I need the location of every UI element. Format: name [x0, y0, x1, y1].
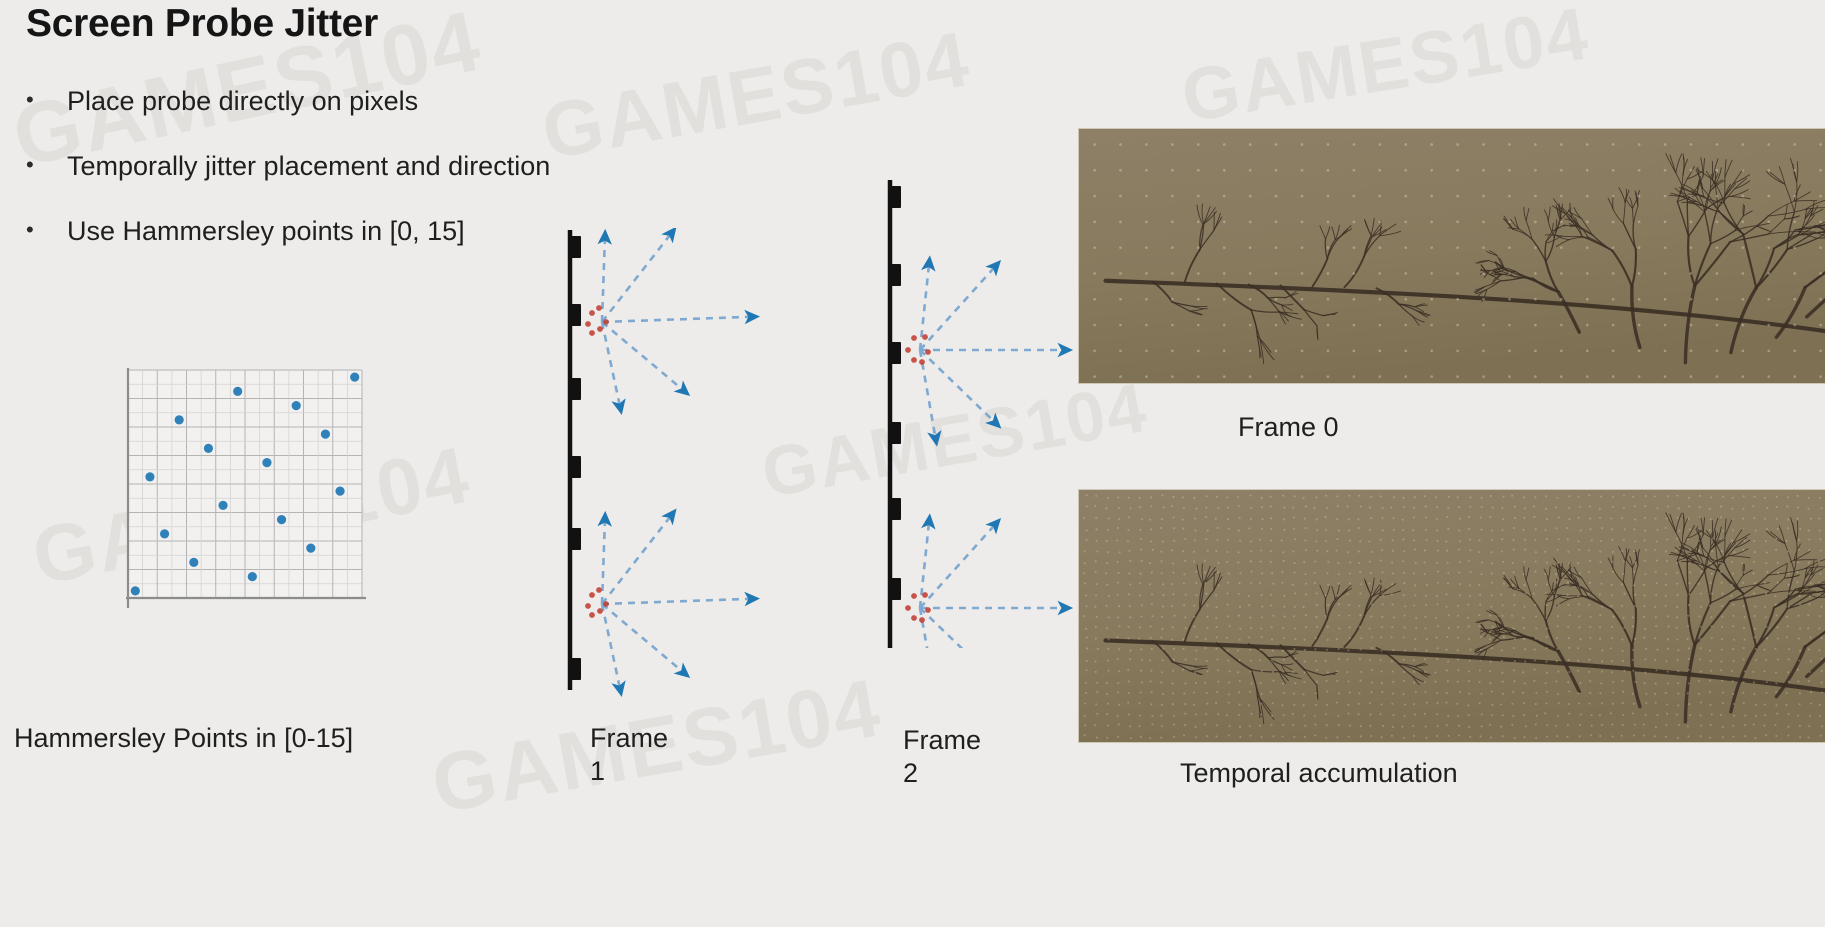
probe-dot	[1665, 573, 1667, 575]
probe-dot	[1173, 736, 1175, 738]
probe-dot	[1787, 671, 1789, 673]
probe-dot	[1239, 606, 1241, 608]
probe-dot	[1239, 704, 1241, 706]
probe-dot	[1182, 669, 1184, 671]
probe-dot	[1654, 693, 1656, 695]
probe-dot	[1776, 626, 1778, 628]
probe-dot	[1445, 593, 1447, 595]
probe-dot	[1217, 681, 1219, 683]
probe-dot	[1730, 595, 1732, 597]
probe-dot	[1239, 639, 1241, 641]
probe-dot	[1482, 375, 1485, 378]
probe-dot	[1139, 573, 1141, 575]
probe-dot	[1275, 324, 1278, 327]
probe-dot	[1753, 723, 1755, 725]
probe-dot	[1732, 680, 1734, 682]
probe-dot	[1392, 539, 1394, 541]
probe-dot	[1688, 647, 1690, 649]
probe-dot	[1742, 528, 1744, 530]
probe-dot	[1458, 549, 1460, 551]
probe-dot	[1721, 626, 1723, 628]
probe-dot	[1193, 692, 1195, 694]
probe-dot	[1160, 715, 1162, 717]
probe-dot	[1447, 528, 1449, 530]
probe-dot	[1381, 517, 1383, 519]
probe-dot	[1084, 550, 1086, 552]
probe-dot	[1414, 594, 1416, 596]
probe-dot	[1534, 350, 1537, 353]
probe-dot	[1721, 680, 1723, 682]
scatter-point	[131, 586, 140, 595]
probe-dot	[1667, 682, 1669, 684]
probe-dot	[1171, 583, 1173, 585]
probe-dot	[1275, 169, 1278, 172]
probe-dot	[1261, 693, 1263, 695]
probe-dot	[1688, 505, 1690, 507]
probe-dot	[1119, 246, 1122, 249]
probe-dot	[1819, 704, 1821, 706]
probe-dot	[1491, 582, 1493, 584]
probe-dot	[1085, 594, 1087, 596]
probe-dot	[1623, 627, 1625, 629]
probe-dot	[1512, 715, 1514, 717]
probe-dot	[1743, 647, 1745, 649]
probe-dot	[1819, 195, 1822, 198]
probe-dot	[1301, 246, 1304, 249]
probe-dot	[1173, 648, 1175, 650]
probe-dot	[1249, 143, 1252, 146]
probe-dot	[1251, 682, 1253, 684]
probe-dot	[1183, 604, 1185, 606]
probe-dot	[1382, 725, 1384, 727]
probe-dot	[1259, 659, 1261, 661]
probe-dot	[1261, 528, 1263, 530]
probe-dot	[1524, 660, 1526, 662]
probe-dot	[1248, 704, 1250, 706]
probe-dot	[1272, 735, 1274, 737]
probe-dot	[1249, 221, 1252, 224]
probe-dot	[1206, 670, 1208, 672]
probe-dot	[1283, 507, 1285, 509]
probe-dot	[1456, 375, 1459, 378]
probe-dot	[1808, 497, 1810, 499]
probe-dot	[1271, 626, 1273, 628]
probe-dot	[1447, 507, 1449, 509]
probe-dot	[1129, 605, 1131, 607]
probe-dot	[1766, 681, 1768, 683]
probe-dot	[1338, 627, 1340, 629]
probe-dot	[1623, 507, 1625, 509]
probe-dot	[1818, 628, 1820, 630]
probe-dot	[1479, 669, 1481, 671]
probe-dot	[1502, 693, 1504, 695]
probe-dot	[1655, 702, 1657, 704]
probe-dot	[1468, 680, 1470, 682]
probe-dot	[1796, 518, 1798, 520]
probe-dot	[1139, 506, 1141, 508]
probe-dot	[1490, 551, 1492, 553]
probe-dot	[1557, 562, 1559, 564]
probe-dot	[1810, 518, 1812, 520]
probe-dot	[1182, 527, 1184, 529]
probe-dot	[1151, 572, 1153, 574]
probe-dot	[1611, 626, 1613, 628]
probe-dot	[1777, 637, 1779, 639]
probe-dot	[1787, 496, 1789, 498]
probe-dot	[1119, 350, 1122, 353]
probe-dot	[1664, 298, 1667, 301]
render-frame0-image	[1078, 128, 1825, 384]
probe-dot	[1184, 682, 1186, 684]
probe-dot	[1638, 169, 1641, 172]
probe-dot	[1095, 660, 1097, 662]
probe-dot	[1808, 561, 1810, 563]
probe-dot	[1589, 505, 1591, 507]
probe-sample-dot	[922, 334, 928, 340]
probe-dot	[1338, 573, 1340, 575]
probe-dot	[1207, 530, 1209, 532]
probe-dot	[1676, 638, 1678, 640]
probe-dot	[1819, 573, 1821, 575]
probe-dot	[1292, 550, 1294, 552]
probe-dot	[1145, 298, 1148, 301]
probe-dot	[1275, 143, 1278, 146]
probe-dot	[1228, 725, 1230, 727]
probe-sample-dot	[905, 347, 911, 353]
pixel-tick	[569, 236, 581, 258]
probe-dot	[1413, 671, 1415, 673]
probe-dot	[1742, 350, 1745, 353]
probe-dot	[1327, 626, 1329, 628]
probe-dot	[1699, 658, 1701, 660]
scatter-point	[262, 458, 271, 467]
probe-dot	[1799, 736, 1801, 738]
probe-dot	[1327, 169, 1330, 172]
probe-dot	[1304, 639, 1306, 641]
probe-dot	[1534, 648, 1536, 650]
probe-dot	[1799, 725, 1801, 727]
probe-dot	[1392, 604, 1394, 606]
probe-dot	[1436, 637, 1438, 639]
probe-dot	[1687, 615, 1689, 617]
probe-dot	[1478, 681, 1480, 683]
probe-dot	[1601, 605, 1603, 607]
probe-dot	[1586, 350, 1589, 353]
probe-dot	[1578, 702, 1580, 704]
probe-dot	[1767, 324, 1770, 327]
probe-dot	[1378, 350, 1381, 353]
probe-dot	[1638, 375, 1641, 378]
probe-dot	[1568, 647, 1570, 649]
probe-dot	[1633, 571, 1635, 573]
probe-dot	[1656, 507, 1658, 509]
probe-dot	[1184, 703, 1186, 705]
probe-dot	[1678, 507, 1680, 509]
probe-dot	[1206, 703, 1208, 705]
pixel-tick	[889, 186, 901, 208]
probe-dot	[1793, 298, 1796, 301]
probe-dot	[1378, 246, 1381, 249]
caption-frame-1: Frame 1	[590, 722, 668, 788]
probe-dot	[1140, 538, 1142, 540]
probe-dot	[1414, 549, 1416, 551]
probe-dot	[1665, 584, 1667, 586]
probe-dot	[1391, 660, 1393, 662]
probe-dot	[1623, 539, 1625, 541]
probe-dot	[1490, 660, 1492, 662]
probe-dot	[1807, 736, 1809, 738]
probe-dot	[1227, 660, 1229, 662]
probe-dot	[1508, 272, 1511, 275]
probe-dot	[1688, 703, 1690, 705]
probe-dot	[1426, 702, 1428, 704]
probe-dot	[1645, 693, 1647, 695]
probe-dot	[1205, 538, 1207, 540]
probe-dot	[1204, 559, 1206, 561]
probe-dot	[1248, 527, 1250, 529]
probe-dot	[1378, 324, 1381, 327]
probe-dot	[1414, 714, 1416, 716]
probe-dot	[1228, 702, 1230, 704]
probe-dot	[1359, 593, 1361, 595]
probe-dot	[1534, 571, 1536, 573]
probe-dot	[1393, 617, 1395, 619]
probe-dot	[1434, 681, 1436, 683]
probe-dot	[1579, 735, 1581, 737]
probe-dot	[1689, 549, 1691, 551]
probe-dot	[1326, 550, 1328, 552]
probe-dot	[1425, 529, 1427, 531]
probe-dot	[1128, 572, 1130, 574]
probe-dot	[1810, 582, 1812, 584]
probe-dot	[1821, 681, 1823, 683]
probe-dot	[1622, 660, 1624, 662]
probe-dot	[1173, 540, 1175, 542]
probe-dot	[1193, 704, 1195, 706]
probe-dot	[1512, 628, 1514, 630]
probe-dot	[1378, 143, 1381, 146]
probe-dot	[1742, 517, 1744, 519]
probe-dot	[1381, 691, 1383, 693]
probe-dot	[1633, 550, 1635, 552]
probe-dot	[1294, 627, 1296, 629]
probe-dot	[1644, 530, 1646, 532]
probe-dot	[1643, 682, 1645, 684]
probe-dot	[1369, 713, 1371, 715]
scatter-point	[335, 487, 344, 496]
probe-dot	[1819, 221, 1822, 224]
probe-dot	[1360, 671, 1362, 673]
probe-dot	[1173, 516, 1175, 518]
probe-dot	[1292, 507, 1294, 509]
probe-dot	[1676, 562, 1678, 564]
probe-dot	[1489, 724, 1491, 726]
probe-dot	[1742, 195, 1745, 198]
probe-dot	[1140, 648, 1142, 650]
probe-dot	[1434, 672, 1436, 674]
probe-dot	[1523, 638, 1525, 640]
probe-dot	[1721, 582, 1723, 584]
probe-dot	[1305, 549, 1307, 551]
probe-dot	[1634, 540, 1636, 542]
probe-dot	[1096, 583, 1098, 585]
probe-dot	[1721, 616, 1723, 618]
probe-dot	[1301, 375, 1304, 378]
probe-dot	[1217, 713, 1219, 715]
probe-dot	[1151, 603, 1153, 605]
probe-dot	[1797, 495, 1799, 497]
probe-dot	[1096, 682, 1098, 684]
probe-dot	[1239, 726, 1241, 728]
probe-dot	[1479, 604, 1481, 606]
probe-dot	[1327, 298, 1330, 301]
probe-dot	[1084, 734, 1086, 736]
probe-dot	[1765, 626, 1767, 628]
probe-dot	[1424, 627, 1426, 629]
probe-dot	[1093, 272, 1096, 275]
probe-dot	[1588, 659, 1590, 661]
probe-dot	[1349, 637, 1351, 639]
probe-dot	[1535, 615, 1537, 617]
probe-dot	[1699, 638, 1701, 640]
probe-dot	[1381, 626, 1383, 628]
probe-sample-dot	[911, 335, 917, 341]
probe-dot	[1458, 572, 1460, 574]
probe-dot	[1568, 507, 1570, 509]
probe-dot	[1716, 375, 1719, 378]
probe-dot	[1786, 616, 1788, 618]
probe-dot	[1195, 713, 1197, 715]
probe-dot	[1138, 638, 1140, 640]
probe-dot	[1301, 169, 1304, 172]
probe-dot	[1514, 506, 1516, 508]
probe-dot	[1492, 626, 1494, 628]
probe-dot	[1303, 704, 1305, 706]
probe-dot	[1793, 195, 1796, 198]
probe-dot	[1690, 246, 1693, 249]
render-frame0-svg	[1079, 129, 1825, 383]
probe-dot	[1205, 593, 1207, 595]
probe-dot	[1281, 582, 1283, 584]
probe-dot	[1775, 538, 1777, 540]
probe-dot	[1534, 143, 1537, 146]
probe-dot	[1327, 604, 1329, 606]
probe-dot	[1711, 637, 1713, 639]
probe-dot	[1270, 724, 1272, 726]
probe-dot	[1117, 691, 1119, 693]
probe-dot	[1589, 518, 1591, 520]
probe-dot	[1799, 628, 1801, 630]
probe-dot	[1301, 221, 1304, 224]
probe-dot	[1413, 682, 1415, 684]
probe-dot	[1325, 594, 1327, 596]
probe-dot	[1303, 693, 1305, 695]
probe-dot	[1481, 713, 1483, 715]
probe-dot	[1534, 604, 1536, 606]
probe-dot	[1819, 272, 1822, 275]
scatter-point	[204, 444, 213, 453]
probe-dot	[1482, 298, 1485, 301]
probe-dot	[1513, 549, 1515, 551]
probe-dot	[1107, 660, 1109, 662]
probe-dot	[1316, 681, 1318, 683]
probe-dot	[1491, 562, 1493, 564]
hammersley-scatter-svg	[118, 362, 368, 610]
probe-dot	[1788, 648, 1790, 650]
probe-dot	[1326, 724, 1328, 726]
probe-dot	[1545, 508, 1547, 510]
probe-dot	[1119, 169, 1122, 172]
probe-dot	[1578, 692, 1580, 694]
probe-dot	[1413, 703, 1415, 705]
probe-dot	[1612, 571, 1614, 573]
probe-dot	[1172, 670, 1174, 672]
probe-dot	[1430, 350, 1433, 353]
probe-dot	[1788, 584, 1790, 586]
probe-dot	[1358, 713, 1360, 715]
probe-dot	[1611, 584, 1613, 586]
probe-dot	[1545, 592, 1547, 594]
probe-dot	[1456, 195, 1459, 198]
probe-dot	[1446, 669, 1448, 671]
probe-dot	[1689, 562, 1691, 564]
probe-dot	[1612, 736, 1614, 738]
probe-dot	[1501, 550, 1503, 552]
probe-dot	[1634, 605, 1636, 607]
probe-dot	[1171, 549, 1173, 551]
probe-dot	[1733, 639, 1735, 641]
probe-dot	[1676, 606, 1678, 608]
probe-dot	[1270, 505, 1272, 507]
probe-dot	[1700, 735, 1702, 737]
probe-dot	[1085, 605, 1087, 607]
probe-dot	[1447, 582, 1449, 584]
probe-dot	[1579, 584, 1581, 586]
probe-cluster	[585, 229, 757, 412]
probe-dot	[1145, 350, 1148, 353]
probe-sample-dot	[911, 593, 917, 599]
probe-dot	[1403, 550, 1405, 552]
probe-dot	[1667, 495, 1669, 497]
probe-dot	[1522, 671, 1524, 673]
probe-dot	[1754, 628, 1756, 630]
probe-dot	[1456, 298, 1459, 301]
probe-dot	[1327, 195, 1330, 198]
probe-dot	[1228, 734, 1230, 736]
probe-dot	[1665, 692, 1667, 694]
probe-dot	[1282, 683, 1284, 685]
probe-dot	[1272, 650, 1274, 652]
probe-dot	[1632, 693, 1634, 695]
probe-dot	[1775, 691, 1777, 693]
pixel-tick	[889, 264, 901, 286]
probe-dot	[1709, 737, 1711, 739]
probe-dot	[1690, 221, 1693, 224]
probe-dot	[1370, 517, 1372, 519]
probe-dot	[1796, 581, 1798, 583]
probe-dot	[1446, 724, 1448, 726]
probe-dot	[1688, 604, 1690, 606]
probe-dot	[1403, 659, 1405, 661]
probe-dot	[1353, 143, 1356, 146]
probe-dot	[1086, 660, 1088, 662]
probe-dot	[1347, 704, 1349, 706]
probe-dot	[1787, 726, 1789, 728]
probe-dot	[1763, 649, 1765, 651]
probe-dot	[1568, 562, 1570, 564]
probe-dot	[1556, 497, 1558, 499]
probe-dot	[1765, 540, 1767, 542]
